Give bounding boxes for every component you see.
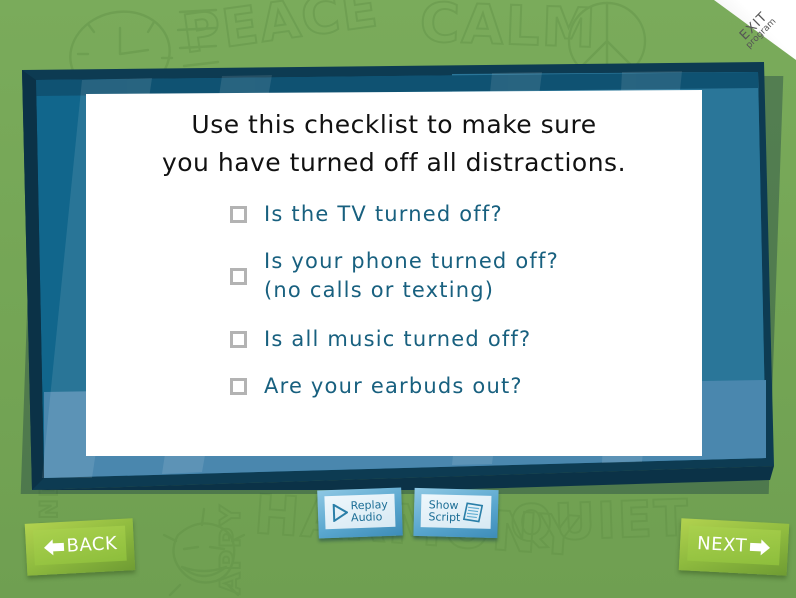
list-item[interactable]: Is all music turned off? <box>230 325 688 354</box>
next-button-label: NEXT <box>697 533 748 557</box>
page-title: Use this checklist to make sure you have… <box>100 106 688 182</box>
checkbox-tv[interactable] <box>230 206 247 223</box>
checklist-label-earbuds: Are your earbuds out? <box>264 372 523 401</box>
replay-audio-button[interactable]: Replay Audio <box>317 488 403 539</box>
back-button[interactable]: BACK <box>25 518 136 576</box>
script-document-icon <box>463 501 484 524</box>
doodle-word-peace: PEACE <box>179 0 383 65</box>
checklist-label-tv: Is the TV turned off? <box>264 200 503 229</box>
show-script-button[interactable]: Show Script <box>413 488 498 538</box>
checklist-label-phone-main: Is your phone turned off? <box>264 249 559 273</box>
tv-frame: Use this checklist to make sure you have… <box>22 62 774 490</box>
list-item[interactable]: Are your earbuds out? <box>230 372 688 401</box>
replay-audio-line2: Audio <box>351 510 383 524</box>
lesson-screen: PEACE CALM CONFIDENCE KINDNESS HAPPY HAR… <box>0 0 796 598</box>
doodle-word-happy: HAPPY <box>214 503 247 598</box>
back-button-face: BACK <box>33 526 127 566</box>
show-script-line2: Script <box>428 510 460 524</box>
list-item[interactable]: Is the TV turned off? <box>230 200 688 229</box>
tv-screen: Use this checklist to make sure you have… <box>86 94 702 456</box>
exit-program-button[interactable]: EXIT program <box>714 0 796 60</box>
checklist: Is the TV turned off? Is your phone turn… <box>100 200 688 401</box>
checkbox-phone[interactable] <box>230 268 247 285</box>
next-button-face: NEXT <box>687 526 781 566</box>
checkbox-earbuds[interactable] <box>230 378 247 395</box>
show-script-label: Show Script <box>428 499 461 524</box>
checklist-label-phone: Is your phone turned off? (no calls or t… <box>264 247 559 305</box>
replay-audio-label: Replay Audio <box>350 499 388 524</box>
heading-line-2: you have turned off all distractions. <box>100 144 688 182</box>
next-button[interactable]: NEXT <box>679 518 790 576</box>
arrow-left-icon <box>42 536 65 557</box>
heading-line-1: Use this checklist to make sure <box>100 106 688 144</box>
back-button-label: BACK <box>66 533 118 557</box>
list-item[interactable]: Is your phone turned off? (no calls or t… <box>230 247 688 305</box>
checklist-label-phone-sub: (no calls or texting) <box>264 276 559 305</box>
show-script-face: Show Script <box>421 494 492 529</box>
checklist-label-music: Is all music turned off? <box>264 325 531 354</box>
play-icon <box>332 503 349 522</box>
doodle-word-quiet: QUIET <box>509 489 691 553</box>
checkbox-music[interactable] <box>230 331 247 348</box>
replay-audio-face: Replay Audio <box>324 494 395 529</box>
arrow-right-icon <box>748 536 771 557</box>
